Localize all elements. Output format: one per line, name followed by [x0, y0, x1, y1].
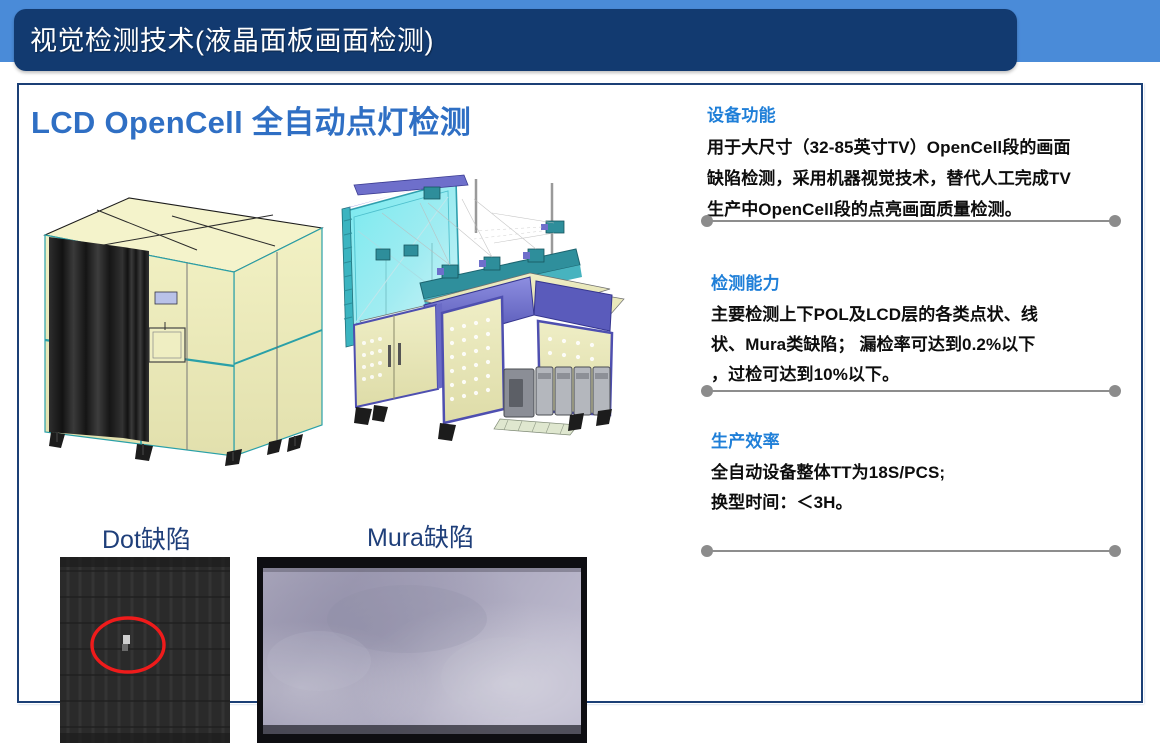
slide-heading-opencell: OpenCell [105, 105, 243, 140]
section-equipment-function: 设备功能 用于大尺寸（32-85英寸TV）OpenCell段的画面 缺陷检测，采… [707, 101, 1147, 225]
mura-defect-photo [257, 557, 587, 743]
section-divider [701, 385, 1121, 397]
slide-heading-suffix: 全自动点灯检测 [243, 105, 471, 140]
text-column: 设备功能 用于大尺寸（32-85英寸TV）OpenCell段的画面 缺陷检测，采… [687, 85, 1142, 703]
media-column: Dot缺陷 Mura缺陷 [19, 145, 669, 700]
header-title-plate: 视觉检测技术(液晶面板画面检测) [14, 9, 1017, 71]
machine-inspection-station-illustration [324, 173, 634, 463]
section-detection-capability: 检测能力 主要检测上下POL及LCD层的各类点状、线 状、Mura类缺陷； 漏检… [711, 269, 1151, 390]
divider-dot-right [1109, 215, 1121, 227]
section-divider [701, 545, 1121, 557]
section-body-line: 主要检测上下POL及LCD层的各类点状、线 [711, 300, 1151, 330]
machine-cabinet-illustration [37, 180, 337, 470]
section-body-line: 全自动设备整体TT为18S/PCS; [711, 458, 1151, 488]
slide-header: 视觉检测技术(液晶面板画面检测) [0, 0, 1160, 83]
section-body-line: 换型时间：＜3H。 [711, 488, 1151, 518]
section-body-line: 缺陷检测，采用机器视觉技术，替代人工完成TV [707, 163, 1147, 194]
section-title: 生产效率 [711, 427, 1151, 452]
divider-line [707, 550, 1115, 552]
section-divider [701, 215, 1121, 227]
slide-heading-prefix: LCD [31, 105, 105, 140]
section-body: 主要检测上下POL及LCD层的各类点状、线 状、Mura类缺陷； 漏检率可达到0… [711, 300, 1151, 390]
section-title: 设备功能 [707, 101, 1147, 126]
caption-mura-defect: Mura缺陷 [367, 518, 474, 554]
section-body: 全自动设备整体TT为18S/PCS; 换型时间：＜3H。 [711, 458, 1151, 518]
section-title: 检测能力 [711, 269, 1151, 294]
divider-line [707, 220, 1115, 222]
slide-heading: LCD OpenCell 全自动点灯检测 [31, 97, 471, 142]
section-body-line: 用于大尺寸（32-85英寸TV）OpenCell段的画面 [707, 132, 1147, 163]
divider-line [707, 390, 1115, 392]
dot-defect-photo [60, 557, 230, 743]
section-body: 用于大尺寸（32-85英寸TV）OpenCell段的画面 缺陷检测，采用机器视觉… [707, 132, 1147, 225]
page-title: 视觉检测技术(液晶面板画面检测) [30, 19, 434, 58]
section-production-efficiency: 生产效率 全自动设备整体TT为18S/PCS; 换型时间：＜3H。 [711, 427, 1151, 518]
divider-dot-right [1109, 545, 1121, 557]
divider-dot-right [1109, 385, 1121, 397]
caption-dot-defect: Dot缺陷 [102, 520, 191, 556]
section-body-line: 状、Mura类缺陷； 漏检率可达到0.2%以下 [711, 330, 1151, 360]
content-panel: LCD OpenCell 全自动点灯检测 [17, 83, 1143, 703]
